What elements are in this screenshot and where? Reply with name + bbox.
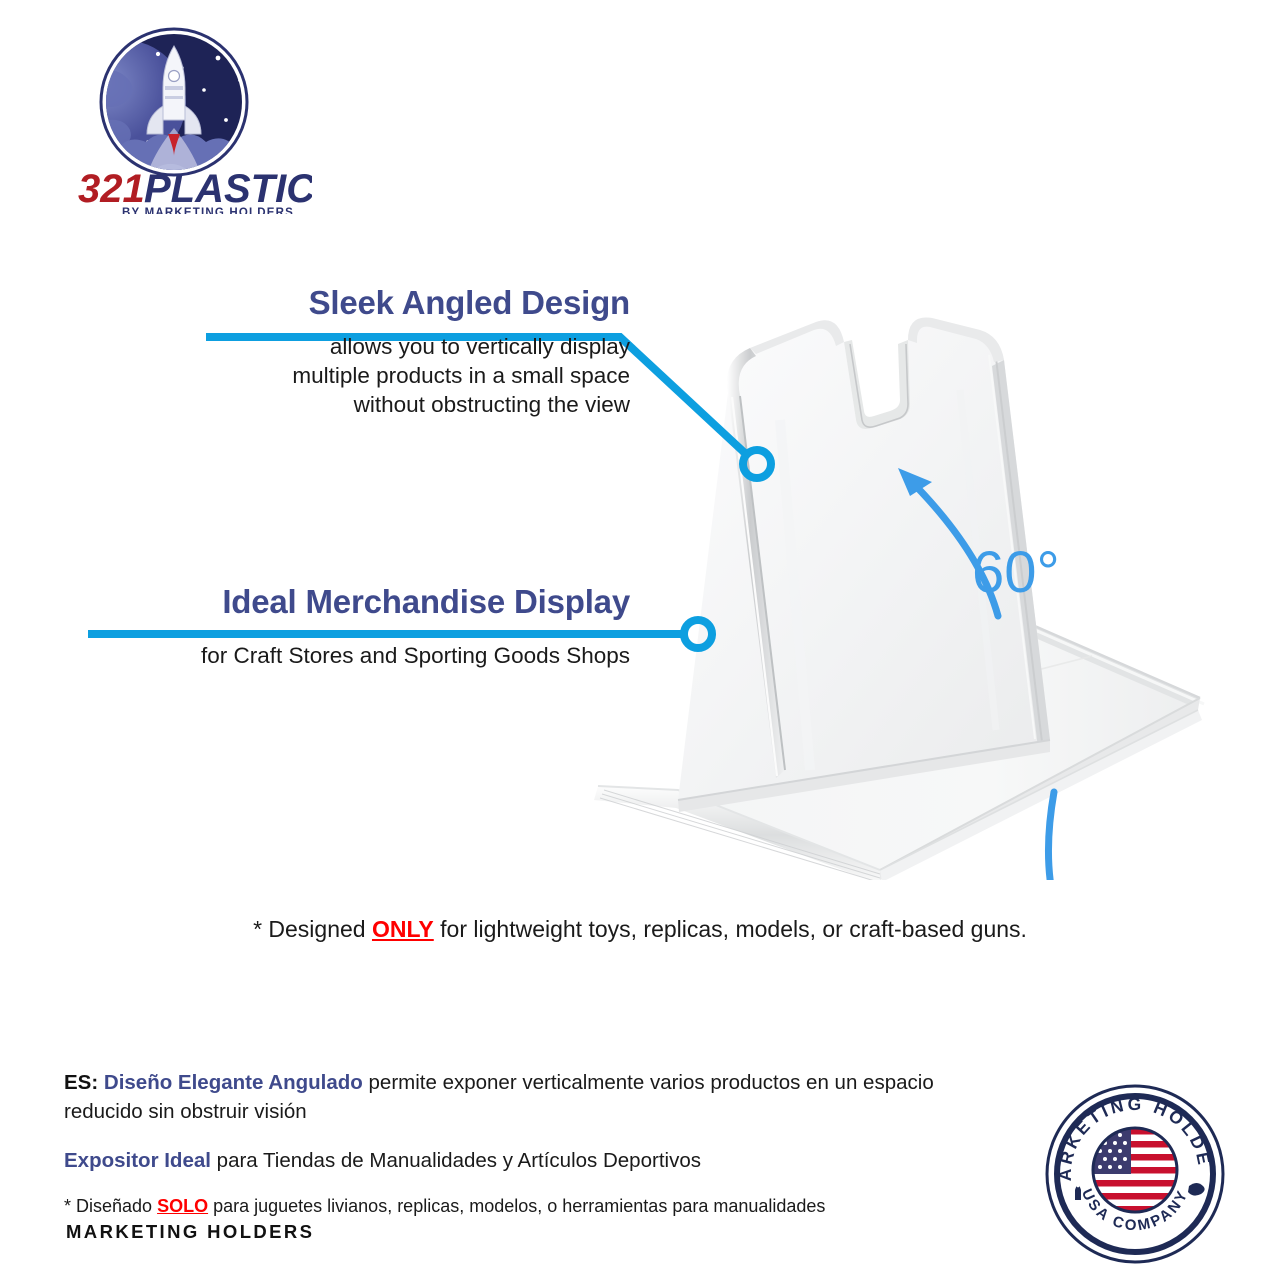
callout-ideal-body: for Craft Stores and Sporting Goods Shop…	[60, 641, 630, 670]
logo-svg: 321 PLASTICS BY MARKETING HOLDERS	[62, 24, 312, 214]
callout-sleek-title: Sleek Angled Design	[150, 286, 630, 321]
logo-tagline-text: BY MARKETING HOLDERS	[122, 207, 294, 214]
spanish-line1-highlight: Diseño Elegante Angulado	[104, 1071, 363, 1094]
spanish-line2-highlight: Expositor Ideal	[64, 1149, 211, 1172]
brand-logo: 321 PLASTICS BY MARKETING HOLDERS	[62, 24, 312, 214]
seal-rocket-glyph	[1075, 1185, 1081, 1200]
stand-svg: 60°	[580, 300, 1240, 880]
spanish-line2-rest: para Tiendas de Manualidades y Artículos…	[211, 1149, 701, 1172]
spanish-lang-tag: ES:	[64, 1071, 98, 1094]
spanish-description-block: ES: Diseño Elegante Angulado permite exp…	[64, 1068, 1014, 1220]
callout-sleek-angled-design: Sleek Angled Design allows you to vertic…	[150, 286, 630, 420]
spanish-line-3: * Diseñado SOLO para juguetes livianos, …	[64, 1194, 1014, 1219]
seal-usa-map-glyph	[1188, 1183, 1205, 1196]
callout-ideal-merchandise-display: Ideal Merchandise Display for Craft Stor…	[60, 585, 630, 670]
infographic-page: 321 PLASTICS BY MARKETING HOLDERS	[0, 0, 1280, 1280]
disclaimer-suffix: for lightweight toys, replicas, models, …	[434, 916, 1027, 942]
callout-sleek-body: allows you to vertically display multipl…	[150, 332, 630, 420]
acrylic-display-stand-image: 60°	[580, 300, 1240, 880]
spanish-solo-emphasis: SOLO	[157, 1196, 208, 1216]
spanish-line3-prefix: * Diseñado	[64, 1196, 157, 1216]
angle-label: 60°	[972, 540, 1060, 605]
logo-plastics-text: PLASTICS	[144, 167, 312, 211]
spanish-line3-suffix: para juguetes livianos, replicas, modelo…	[208, 1196, 825, 1216]
logo-321-text: 321	[78, 167, 145, 211]
usa-company-seal: MARKETING HOLDERS USA COMPANY	[1043, 1082, 1227, 1266]
angle-arrow-down	[1048, 792, 1056, 880]
disclaimer-only-emphasis: ONLY	[372, 916, 434, 942]
spanish-line-2: Expositor Ideal para Tiendas de Manualid…	[64, 1146, 1014, 1175]
disclaimer-prefix: * Designed	[253, 916, 372, 942]
callout-ideal-title: Ideal Merchandise Display	[60, 585, 630, 620]
footer-brand-text: MARKETING HOLDERS	[66, 1221, 314, 1243]
disclaimer-english: * Designed ONLY for lightweight toys, re…	[0, 916, 1280, 943]
spanish-line-1: ES: Diseño Elegante Angulado permite exp…	[64, 1068, 1014, 1126]
seal-svg: MARKETING HOLDERS USA COMPANY	[1043, 1082, 1227, 1266]
